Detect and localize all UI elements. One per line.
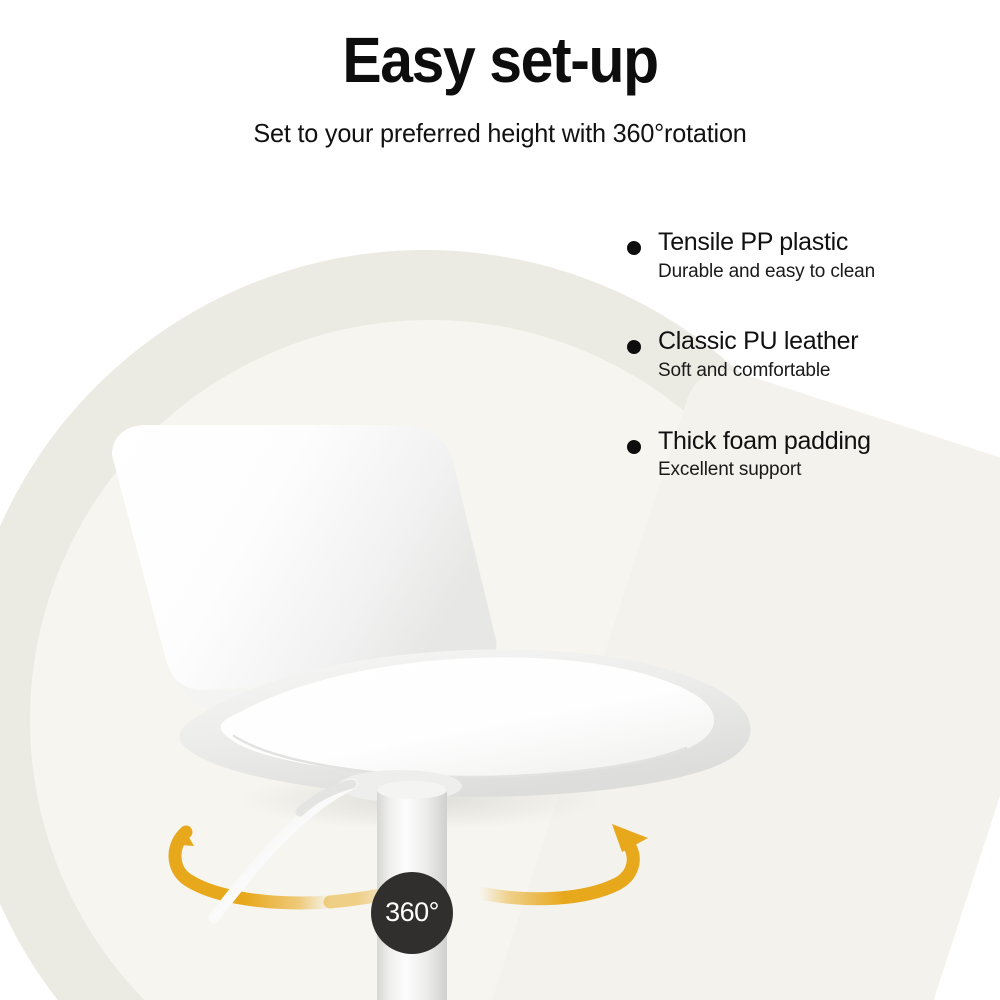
product-image-bar-stool	[0, 0, 1000, 1000]
rotation-badge-label: 360°	[385, 899, 439, 926]
chair-backrest	[112, 425, 496, 690]
chair-column-top-cap	[377, 781, 447, 799]
rotation-badge-icon: 360°	[371, 872, 453, 954]
infographic-canvas: Easy set-up Set to your preferred height…	[0, 0, 1000, 1000]
